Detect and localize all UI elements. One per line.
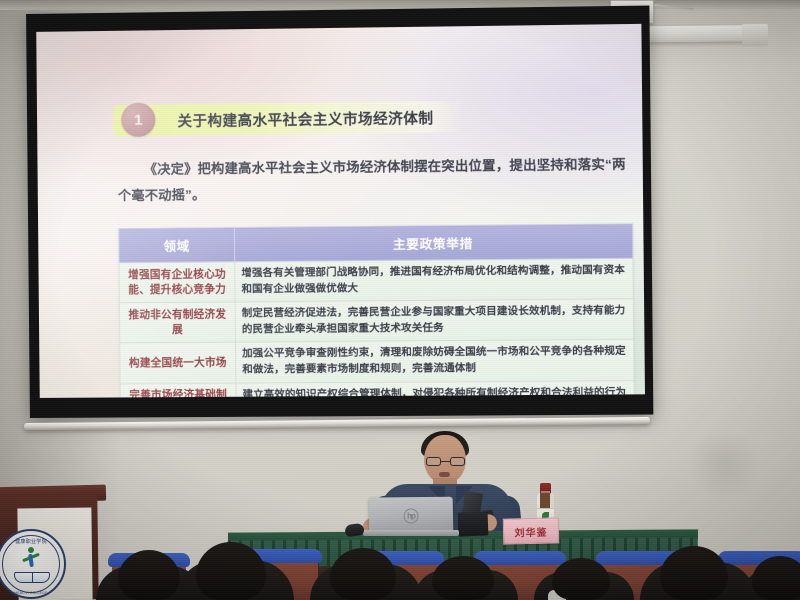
emblem-top-text: 健康职业学院	[0, 538, 64, 545]
table-row: 构建全国统一大市场 加强公平竞争审查刚性约束，清理和废除妨碍全国统一市场和公平竞…	[120, 340, 634, 384]
device-stand	[458, 511, 489, 536]
nameplate: 刘华鉴	[503, 517, 560, 544]
table-row: 完善市场经济基础制度 建立高效的知识产权综合管理体制，对侵犯各种所有制经济产权和…	[120, 380, 634, 398]
emblem-bottom-text: HEALTH COLLEGE	[0, 591, 64, 595]
row-area: 推动非公有制经济发展	[119, 302, 235, 343]
laptop-base[interactable]	[363, 530, 459, 536]
presenter-mouth	[439, 472, 450, 477]
row-measures: 加强公平竞争审查刚性约束，清理和废除妨碍全国统一市场和公平竞争的各种规定和做法，…	[235, 340, 634, 383]
slide-title: 关于构建高水平社会主义市场经济体制	[177, 107, 433, 131]
laptop-lid[interactable]: hp	[369, 497, 453, 534]
hp-logo-icon: hp	[403, 508, 418, 523]
audience-head	[118, 550, 180, 600]
screen-surface: 1 关于构建高水平社会主义市场经济体制 《决定》把构建高水平社会主义市场经济体制…	[36, 24, 645, 398]
row-area: 构建全国统一大市场	[120, 342, 236, 383]
lecture-hall-photo: 1 关于构建高水平社会主义市场经济体制 《决定》把构建高水平社会主义市场经济体制…	[0, 0, 800, 600]
row-measures: 建立高效的知识产权综合管理体制，对侵犯各种所有制经济产权和合法利益的行为实行同责…	[236, 380, 635, 398]
row-area: 完善市场经济基础制度	[120, 383, 236, 398]
row-measures: 增强各有关管理部门战略协同，推进国有经济布局优化和结构调整，推动国有资本和国有企…	[235, 258, 634, 302]
table-row: 增强国有企业核心功能、提升核心竞争力 增强各有关管理部门战略协同，推进国有经济布…	[119, 258, 633, 303]
projection-screen: 1 关于构建高水平社会主义市场经济体制 《决定》把构建高水平社会主义市场经济体制…	[26, 6, 653, 418]
glasses-bridge	[441, 461, 450, 462]
open-book-icon	[14, 572, 50, 583]
table-header-measures: 主要政策举措	[234, 224, 633, 262]
slide-body-paragraph: 《决定》把构建高水平社会主义市场经济体制摆在突出位置，提出坚持和落实“两个毫不动…	[118, 151, 637, 208]
policy-table-body: 增强国有企业核心功能、提升核心竞争力 增强各有关管理部门战略协同，推进国有经济布…	[119, 258, 634, 398]
glasses-icon	[426, 457, 465, 466]
wall-smudge	[690, 430, 760, 500]
audience-head	[330, 548, 396, 600]
policy-table: 领域 主要政策举措 增强国有企业核心功能、提升核心竞争力 增强各有关管理部门战略…	[118, 223, 635, 398]
slide-section-badge: 1	[121, 102, 155, 136]
audience-head	[552, 558, 610, 600]
figure-head	[28, 547, 34, 553]
audience-head	[660, 546, 728, 600]
audience-head	[432, 556, 494, 600]
glasses-lens-right	[450, 457, 465, 466]
audience-head	[196, 542, 266, 600]
table-header-row: 领域 主要政策举措	[119, 224, 633, 263]
nameplate-text: 刘华鉴	[514, 523, 547, 539]
audience-head	[752, 556, 800, 600]
row-area: 增强国有企业核心功能、提升核心竞争力	[119, 262, 235, 303]
presentation-slide: 1 关于构建高水平社会主义市场经济体制 《决定》把构建高水平社会主义市场经济体制…	[36, 24, 645, 398]
row-measures: 制定民营经济促进法，完善民营企业参与国家重大项目建设长效机制，支持有能力的民营企…	[235, 299, 634, 343]
table-row: 推动非公有制经济发展 制定民营经济促进法，完善民营企业参与国家重大项目建设长效机…	[119, 299, 633, 343]
glasses-lens-left	[426, 457, 441, 466]
screen-roller-endcap	[742, 24, 768, 46]
table-header-area: 领域	[119, 228, 235, 263]
